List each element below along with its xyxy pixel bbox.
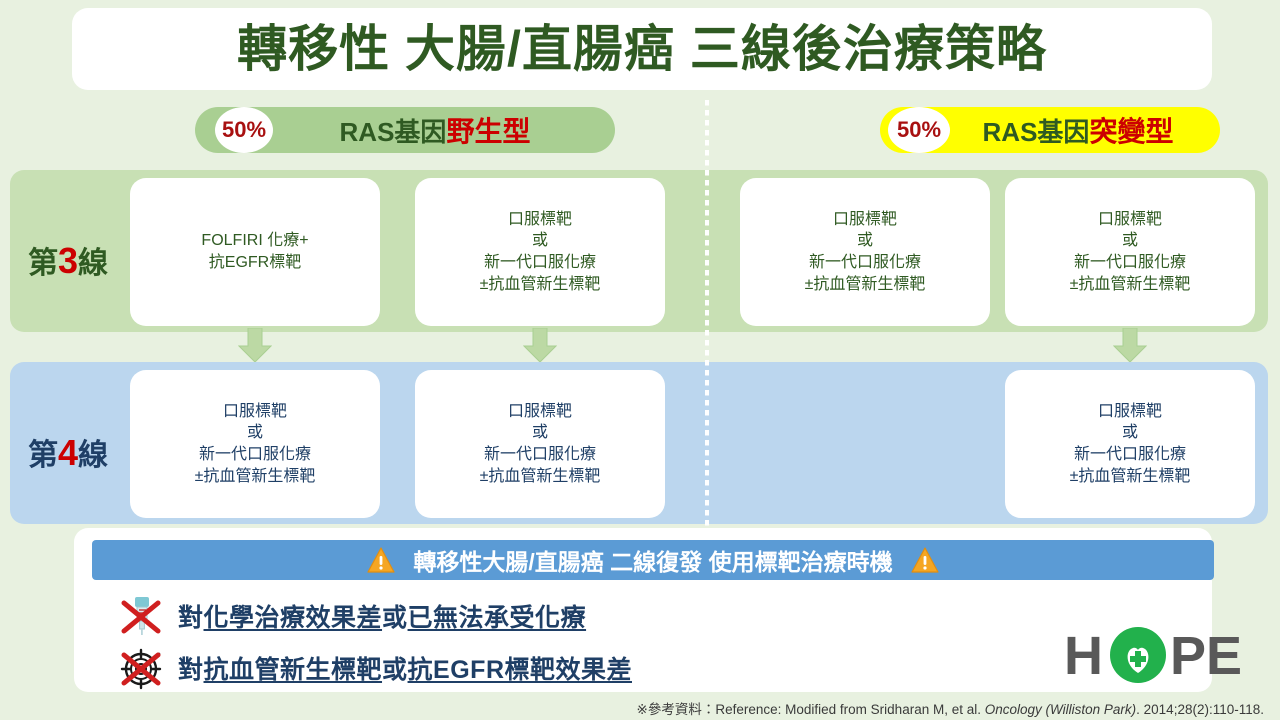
treatment-card-line3-wt-1: FOLFIRI 化療+ 抗EGFR標靶 bbox=[130, 178, 380, 326]
arm-label-emphasis-wild-type: 野生型 bbox=[446, 116, 530, 147]
arm-percent-badge-wild-type: 50% bbox=[215, 107, 273, 153]
row-label-line-4-suffix: 線 bbox=[78, 439, 108, 472]
title-card: 轉移性 大腸/直腸癌 三線後治療策略 bbox=[72, 8, 1212, 90]
criterion-part: 抗血管新生標靶 bbox=[204, 656, 383, 684]
criterion-row-chemo: 對化學治療效果差或已無法承受化療 bbox=[118, 594, 586, 638]
treatment-card-line4-wt-2: 口服標靶 或 新一代口服化療 ±抗血管新生標靶 bbox=[415, 370, 665, 518]
treatment-card-text: 口服標靶 或 新一代口服化療 ±抗血管新生標靶 bbox=[472, 397, 609, 492]
arm-label-wild-type: RAS基因野生型 bbox=[273, 110, 615, 150]
treatment-card-text: 口服標靶 或 新一代口服化療 ±抗血管新生標靶 bbox=[472, 205, 609, 300]
row-label-line-3-suffix: 線 bbox=[78, 247, 108, 280]
hope-logo-h: H bbox=[1064, 626, 1103, 686]
page-title: 轉移性 大腸/直腸癌 三線後治療策略 bbox=[237, 24, 1047, 74]
row-label-line-3-number: 3 bbox=[58, 240, 78, 281]
treatment-card-text: 口服標靶 或 新一代口服化療 ±抗血管新生標靶 bbox=[797, 205, 934, 300]
row-label-line-3: 第3線 bbox=[8, 238, 128, 282]
syringe-crossed-out-icon bbox=[118, 594, 164, 638]
down-arrow-icon bbox=[1113, 328, 1147, 362]
hope-logo-pe: PE bbox=[1170, 626, 1242, 686]
arm-percent-badge-mutant-type: 50% bbox=[888, 107, 950, 153]
arm-header-ras-wild-type: 50% RAS基因野生型 bbox=[195, 107, 615, 153]
down-arrow-icon bbox=[238, 328, 272, 362]
treatment-card-line4-mt-2: 口服標靶 或 新一代口服化療 ±抗血管新生標靶 bbox=[1005, 370, 1255, 518]
reference-prefix: ※參考資料：Reference: Modified from Sridharan… bbox=[637, 702, 985, 717]
arm-label-emphasis-mutant-type: 突變型 bbox=[1089, 116, 1173, 147]
criterion-part: 或 bbox=[382, 604, 408, 632]
timing-banner-text: 轉移性大腸/直腸癌 二線復發 使用標靶治療時機 bbox=[413, 543, 892, 577]
criterion-part: 抗EGFR標靶效果差 bbox=[408, 656, 632, 684]
arm-header-ras-mutant-type: 50% RAS基因突變型 bbox=[880, 107, 1220, 153]
down-arrow-icon bbox=[523, 328, 557, 362]
treatment-card-line3-mt-1: 口服標靶 或 新一代口服化療 ±抗血管新生標靶 bbox=[740, 178, 990, 326]
arm-label-mutant-type: RAS基因突變型 bbox=[950, 110, 1220, 150]
criterion-part: 化學治療效果差 bbox=[204, 604, 383, 632]
row-label-line-3-prefix: 第 bbox=[28, 247, 58, 280]
row-label-line-4-number: 4 bbox=[58, 432, 78, 473]
row-label-line-4: 第4線 bbox=[8, 430, 128, 474]
arm-label-prefix-wild-type: RAS基因 bbox=[340, 117, 447, 147]
criterion-text-chemo: 對化學治療效果差或已無法承受化療 bbox=[178, 598, 586, 634]
treatment-card-line3-mt-2: 口服標靶 或 新一代口服化療 ±抗血管新生標靶 bbox=[1005, 178, 1255, 326]
treatment-card-text: 口服標靶 或 新一代口服化療 ±抗血管新生標靶 bbox=[1062, 397, 1199, 492]
timing-banner: 轉移性大腸/直腸癌 二線復發 使用標靶治療時機 bbox=[92, 540, 1214, 580]
criterion-part: 對 bbox=[178, 656, 204, 684]
hope-logo: H PE bbox=[1062, 624, 1262, 686]
treatment-card-text: FOLFIRI 化療+ 抗EGFR標靶 bbox=[193, 226, 316, 278]
treatment-card-text: 口服標靶 或 新一代口服化療 ±抗血管新生標靶 bbox=[187, 397, 324, 492]
treatment-card-line3-wt-2: 口服標靶 或 新一代口服化療 ±抗血管新生標靶 bbox=[415, 178, 665, 326]
criterion-part: 或 bbox=[382, 656, 408, 684]
treatment-card-line4-wt-1: 口服標靶 或 新一代口服化療 ±抗血管新生標靶 bbox=[130, 370, 380, 518]
arm-divider-dotted-line bbox=[705, 100, 709, 528]
target-crossed-out-icon bbox=[118, 646, 164, 690]
arm-label-prefix-mutant-type: RAS基因 bbox=[983, 117, 1090, 147]
reference-citation: ※參考資料：Reference: Modified from Sridharan… bbox=[0, 698, 1264, 718]
warning-triangle-icon bbox=[367, 547, 395, 573]
criterion-part: 對 bbox=[178, 604, 204, 632]
row-label-line-4-prefix: 第 bbox=[28, 439, 58, 472]
treatment-card-text: 口服標靶 或 新一代口服化療 ±抗血管新生標靶 bbox=[1062, 205, 1199, 300]
criterion-row-targeted: 對抗血管新生標靶或抗EGFR標靶效果差 bbox=[118, 646, 632, 690]
slide-canvas: 轉移性 大腸/直腸癌 三線後治療策略 50% RAS基因野生型 50% RAS基… bbox=[0, 0, 1280, 720]
criterion-part: 已無法承受化療 bbox=[408, 604, 587, 632]
reference-journal: Oncology (Williston Park) bbox=[985, 702, 1136, 717]
reference-suffix: . 2014;28(2):110-118. bbox=[1136, 702, 1264, 717]
warning-triangle-icon bbox=[911, 547, 939, 573]
criterion-text-targeted: 對抗血管新生標靶或抗EGFR標靶效果差 bbox=[178, 650, 632, 686]
